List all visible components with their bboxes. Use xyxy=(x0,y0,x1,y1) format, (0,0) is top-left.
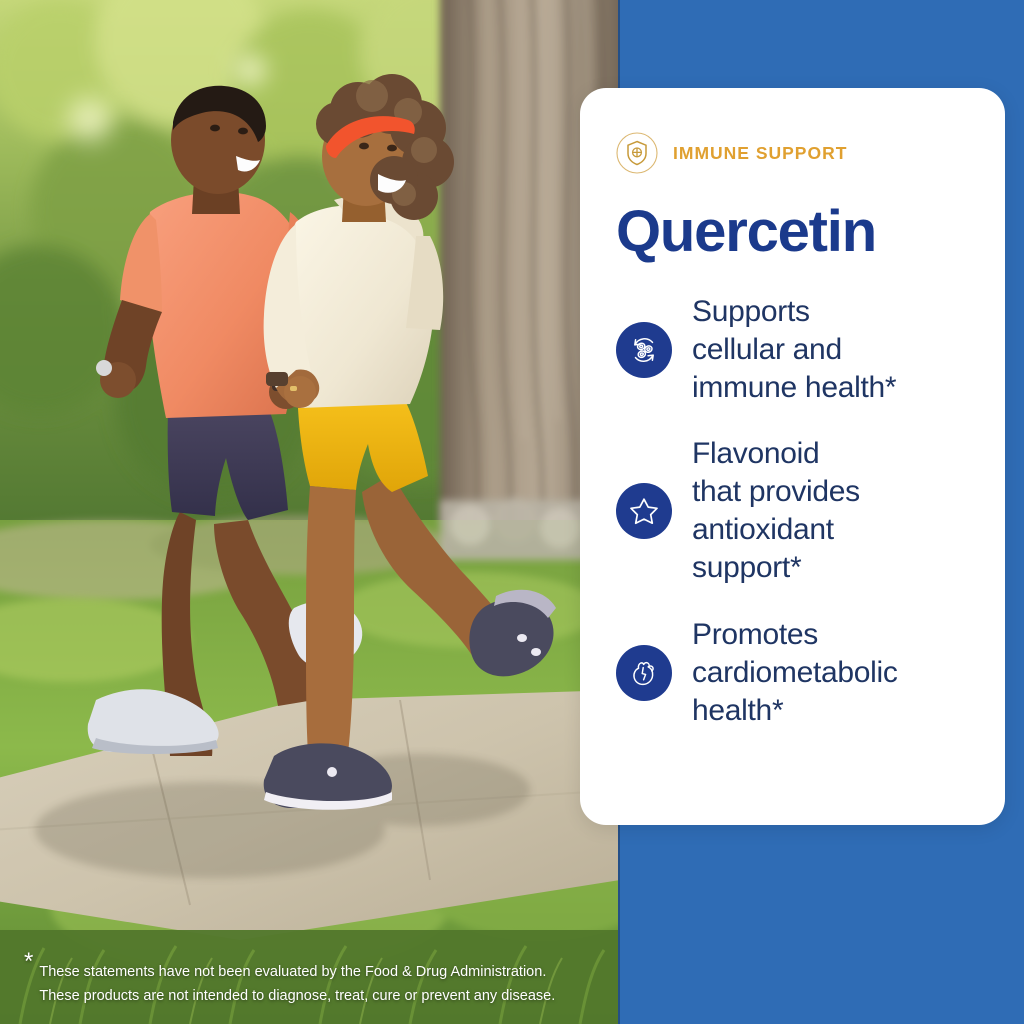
star-icon xyxy=(627,494,661,528)
benefit-badge xyxy=(616,645,672,701)
disclaimer-line-1: These statements have not been evaluated… xyxy=(39,961,555,984)
disclaimer-text: These statements have not been evaluated… xyxy=(39,961,555,1008)
disclaimer-line-2: These products are not intended to diagn… xyxy=(39,985,555,1008)
benefit-badge xyxy=(616,322,672,378)
cell-renewal-icon xyxy=(627,333,661,367)
benefit-item: Supports cellular and immune health* xyxy=(616,293,971,407)
disclaimer-footer: * These statements have not been evaluat… xyxy=(0,944,620,1024)
category-label: IMMUNE SUPPORT xyxy=(673,143,847,164)
shield-plus-icon xyxy=(616,132,658,174)
benefit-badge xyxy=(616,483,672,539)
benefits-list: Supports cellular and immune health* xyxy=(616,293,971,730)
asterisk-marker: * xyxy=(24,950,33,974)
benefit-text: Promotes cardiometabolic health* xyxy=(692,616,898,730)
page-title: Quercetin xyxy=(616,202,971,263)
benefit-item: Promotes cardiometabolic health* xyxy=(616,616,971,730)
photo-illustration xyxy=(0,0,620,1024)
product-info-card: IMMUNE SUPPORT Quercetin xyxy=(580,88,1005,825)
heart-anatomical-icon xyxy=(627,656,661,690)
category-eyebrow: IMMUNE SUPPORT xyxy=(616,132,971,174)
ad-creative-canvas: IMMUNE SUPPORT Quercetin xyxy=(0,0,1024,1024)
lifestyle-running-photo xyxy=(0,0,620,1024)
benefit-text: Supports cellular and immune health* xyxy=(692,293,896,407)
benefit-text: Flavonoid that provides antioxidant supp… xyxy=(692,435,860,587)
benefit-item: Flavonoid that provides antioxidant supp… xyxy=(616,435,971,587)
